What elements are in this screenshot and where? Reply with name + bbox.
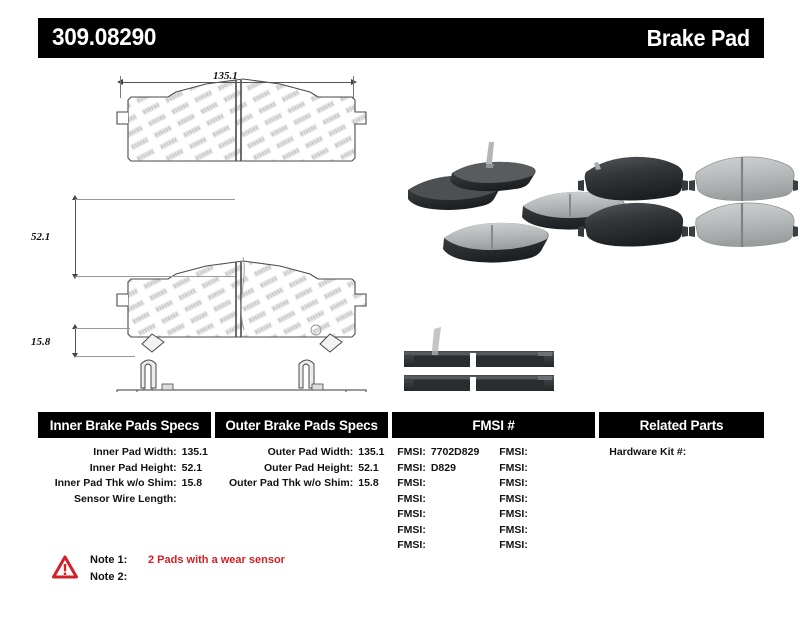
product-photo-angled-pads	[408, 142, 624, 263]
spec-label: Inner Pad Height:	[90, 461, 177, 477]
table-row: FMSI: D829	[391, 461, 493, 477]
table-row: FMSI:	[391, 523, 493, 539]
fmsi-subcolumn-left: FMSI: 7702D829 FMSI: D829 FMSI: FMSI:	[391, 445, 493, 554]
header-bar: 309.08290 Brake Pad	[38, 18, 764, 58]
spec-table-header-row: Inner Brake Pads Specs Outer Brake Pads …	[38, 412, 764, 438]
dim-label-height: 52.1	[31, 231, 50, 243]
spec-label: Outer Pad Height:	[264, 461, 353, 477]
spec-value: 52.1	[353, 461, 387, 477]
table-row: FMSI:	[391, 538, 493, 554]
fmsi-subcolumn-right: FMSI: FMSI: FMSI: FMSI:	[493, 445, 595, 554]
spec-label: Inner Pad Width:	[93, 445, 176, 461]
fmsi-value	[528, 523, 533, 539]
table-row: FMSI:	[493, 538, 595, 554]
table-row: Inner Pad Thk w/o Shim: 15.8	[38, 476, 211, 492]
table-row: FMSI:	[391, 492, 493, 508]
related-part-label: Hardware Kit #:	[609, 446, 686, 458]
fmsi-label: FMSI:	[397, 523, 426, 539]
spec-label: Outer Pad Width:	[268, 445, 354, 461]
table-row: FMSI:	[493, 507, 595, 523]
spec-label: Inner Pad Thk w/o Shim:	[55, 476, 177, 492]
table-row: FMSI: 7702D829	[391, 445, 493, 461]
spec-label: Outer Pad Thk w/o Shim:	[229, 476, 353, 492]
spec-table-body: Inner Pad Width: 135.1 Inner Pad Height:…	[38, 438, 764, 554]
fmsi-label: FMSI:	[499, 461, 528, 477]
dim-ext-top-height	[75, 199, 235, 200]
dim-line-width	[120, 82, 353, 83]
fmsi-label: FMSI:	[397, 492, 426, 508]
fmsi-value	[426, 492, 431, 508]
dim-ext-top-thickness	[75, 328, 130, 329]
fmsi-value	[426, 476, 431, 492]
note-2-row: Note 2:	[90, 569, 285, 586]
fmsi-label: FMSI:	[397, 476, 426, 492]
dim-ext-bot-height	[75, 276, 235, 277]
fmsi-value	[426, 507, 431, 523]
related-parts-column: Hardware Kit #:	[599, 445, 764, 554]
notes-section: Note 1: 2 Pads with a wear sensor Note 2…	[52, 552, 285, 586]
table-row: FMSI:	[391, 476, 493, 492]
table-row: FMSI:	[493, 461, 595, 477]
table-row: Inner Pad Height: 52.1	[38, 461, 211, 477]
fmsi-value	[528, 492, 533, 508]
spec-value: 15.8	[177, 476, 211, 492]
pad-drawing-top	[117, 79, 366, 161]
note-2-label: Note 2:	[90, 569, 142, 586]
technical-drawings-and-photos	[0, 62, 800, 392]
dim-label-width: 135.1	[213, 70, 238, 82]
pad-drawing-side-profile	[117, 360, 366, 392]
table-row: Outer Pad Width: 135.1	[215, 445, 388, 461]
dim-tick-left-width	[120, 76, 121, 98]
spec-table: Inner Brake Pads Specs Outer Brake Pads …	[38, 412, 764, 554]
dim-tick-right-width	[353, 76, 354, 98]
table-row: FMSI:	[493, 523, 595, 539]
note-1-row: Note 1: 2 Pads with a wear sensor	[90, 552, 285, 569]
table-row: Inner Pad Width: 135.1	[38, 445, 211, 461]
spec-value	[177, 492, 211, 508]
fmsi-label: FMSI:	[397, 461, 426, 477]
warning-triangle-icon	[52, 555, 78, 579]
dim-line-height	[75, 199, 76, 277]
table-row: FMSI:	[493, 492, 595, 508]
part-number: 309.08290	[52, 24, 156, 52]
product-type-label: Brake Pad	[647, 25, 750, 52]
fmsi-value: 7702D829	[426, 445, 479, 461]
spec-value: 135.1	[177, 445, 211, 461]
notes-text-block: Note 1: 2 Pads with a wear sensor Note 2…	[90, 552, 285, 586]
dim-arrow-right-width	[351, 79, 357, 85]
note-1-text: 2 Pads with a wear sensor	[142, 552, 285, 569]
fmsi-column: FMSI: 7702D829 FMSI: D829 FMSI: FMSI:	[391, 445, 595, 554]
fmsi-value	[528, 461, 533, 477]
inner-specs-column: Inner Pad Width: 135.1 Inner Pad Height:…	[38, 445, 211, 554]
fmsi-label: FMSI:	[499, 523, 528, 539]
spec-label: Sensor Wire Length:	[74, 492, 177, 508]
product-photo-edge-pads	[404, 327, 554, 391]
fmsi-value: D829	[426, 461, 456, 477]
fmsi-value	[528, 445, 533, 461]
spec-value: 52.1	[177, 461, 211, 477]
column-header-inner-specs: Inner Brake Pads Specs	[38, 412, 211, 438]
column-header-related-parts: Related Parts	[599, 412, 764, 438]
table-row: FMSI:	[391, 507, 493, 523]
dim-label-thickness: 15.8	[31, 336, 50, 348]
table-row: Outer Pad Thk w/o Shim: 15.8	[215, 476, 388, 492]
table-row: FMSI:	[493, 476, 595, 492]
fmsi-value	[528, 538, 533, 554]
spec-sheet-page: 309.08290 Brake Pad	[0, 0, 800, 619]
column-header-outer-specs: Outer Brake Pads Specs	[215, 412, 388, 438]
spec-value: 135.1	[353, 445, 387, 461]
table-row: FMSI:	[493, 445, 595, 461]
table-row: Outer Pad Height: 52.1	[215, 461, 388, 477]
fmsi-value	[528, 476, 533, 492]
fmsi-label: FMSI:	[499, 492, 528, 508]
note-2-text	[142, 569, 148, 586]
dim-line-thickness	[75, 328, 76, 356]
dim-ext-bot-thickness	[75, 356, 135, 357]
drawing-area: 135.1 52.1 15.8	[0, 62, 800, 392]
column-header-fmsi: FMSI #	[392, 412, 595, 438]
fmsi-label: FMSI:	[397, 445, 426, 461]
outer-specs-column: Outer Pad Width: 135.1 Outer Pad Height:…	[215, 445, 388, 554]
fmsi-label: FMSI:	[499, 538, 528, 554]
fmsi-label: FMSI:	[499, 476, 528, 492]
note-1-label: Note 1:	[90, 552, 142, 569]
fmsi-label: FMSI:	[499, 507, 528, 523]
table-row: Sensor Wire Length:	[38, 492, 211, 508]
fmsi-label: FMSI:	[397, 538, 426, 554]
fmsi-label: FMSI:	[499, 445, 528, 461]
spec-value: 15.8	[353, 476, 387, 492]
pad-drawing-middle	[117, 257, 366, 352]
fmsi-value	[426, 538, 431, 554]
table-row: Hardware Kit #:	[609, 445, 764, 461]
fmsi-value	[426, 523, 431, 539]
fmsi-value	[528, 507, 533, 523]
fmsi-label: FMSI:	[397, 507, 426, 523]
